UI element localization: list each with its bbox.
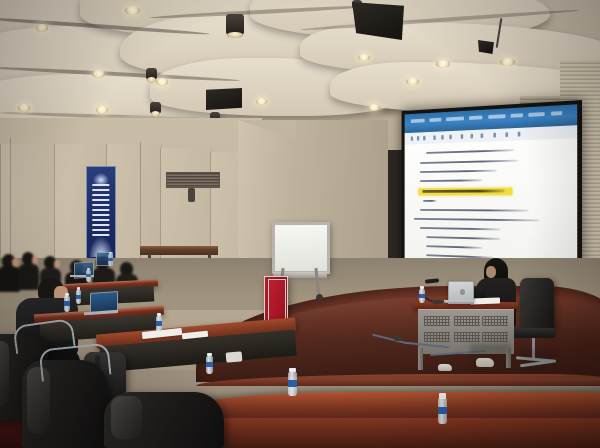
microphone-base bbox=[432, 300, 444, 304]
ceiling-downlight bbox=[500, 58, 515, 66]
red-lectern[interactable] bbox=[264, 276, 288, 322]
water-bottle bbox=[64, 296, 70, 312]
ceiling-downlight bbox=[358, 54, 370, 61]
ceiling-downlight bbox=[436, 60, 450, 68]
water-bottle bbox=[288, 372, 297, 396]
shoe bbox=[438, 364, 452, 371]
ceiling-downlight bbox=[125, 6, 140, 15]
ceiling-downlight bbox=[156, 78, 168, 86]
ceiling-spotlight bbox=[150, 102, 161, 114]
ceiling-spotlight bbox=[146, 68, 157, 80]
stage-reflection bbox=[470, 344, 510, 370]
office-chair[interactable] bbox=[520, 278, 554, 330]
air-vent-grille bbox=[166, 172, 220, 188]
banner-text bbox=[92, 184, 109, 239]
cable-connector bbox=[394, 336, 402, 341]
ceiling-downlight bbox=[406, 78, 419, 85]
papers bbox=[470, 297, 500, 304]
audience-chair[interactable] bbox=[104, 392, 224, 448]
vertical-banner bbox=[86, 166, 116, 260]
water-bottle bbox=[419, 289, 425, 303]
ceiling-downlight bbox=[92, 70, 105, 78]
water-bottle bbox=[86, 270, 91, 282]
presenter-face bbox=[486, 266, 496, 278]
ceiling-speaker bbox=[478, 40, 494, 54]
laptop-base bbox=[444, 300, 474, 303]
ceiling-downlight bbox=[18, 104, 30, 112]
ceiling-downlight bbox=[96, 106, 108, 114]
water-bottle bbox=[76, 290, 81, 304]
ceiling-spotlight bbox=[226, 14, 244, 35]
ceiling-downlight bbox=[36, 24, 48, 32]
back-table bbox=[140, 246, 218, 255]
apple-logo-icon bbox=[460, 289, 465, 295]
wall-sensor-device bbox=[188, 188, 195, 202]
stage-reflection bbox=[520, 350, 556, 372]
water-bottle bbox=[206, 356, 213, 374]
ceiling-speaker bbox=[206, 88, 242, 110]
ceiling-downlight bbox=[256, 98, 267, 105]
mobile-whiteboard[interactable] bbox=[272, 222, 330, 274]
ceiling-downlight bbox=[368, 104, 380, 111]
water-bottle bbox=[156, 316, 162, 332]
highlighted-text bbox=[419, 188, 513, 196]
name-card bbox=[226, 351, 243, 362]
water-bottle bbox=[108, 254, 113, 266]
lecture-hall-photo bbox=[0, 0, 600, 448]
water-bottle bbox=[438, 398, 447, 424]
chair-seat bbox=[512, 328, 556, 338]
